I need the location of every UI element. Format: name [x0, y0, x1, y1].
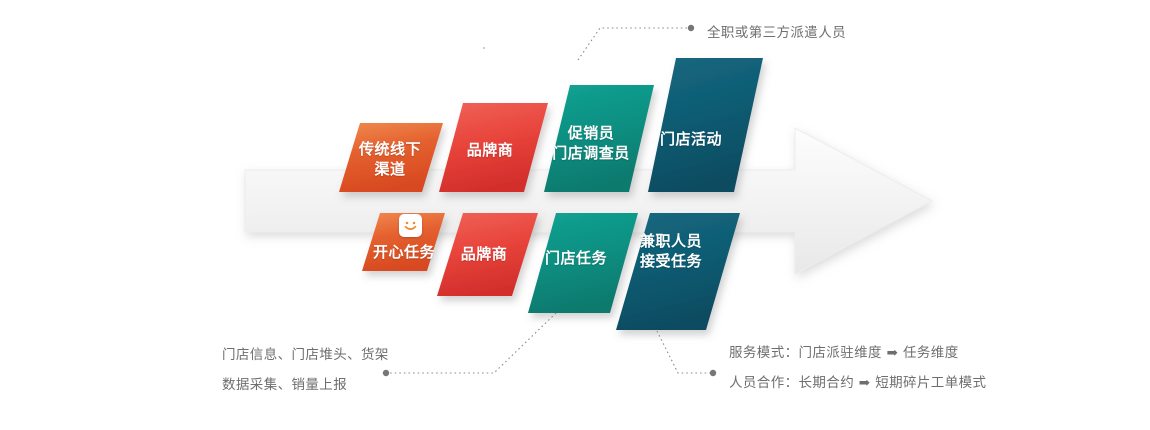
leader-bottom-right: [657, 331, 712, 373]
annotation-bottom-left-line2: 数据采集、销量上报: [222, 375, 347, 396]
annotation-top-right: 全职或第三方派遣人员: [707, 21, 846, 41]
leader-top-right: [578, 28, 690, 60]
leader-dot-top-right: [688, 25, 694, 31]
smiley-icon: [399, 214, 422, 237]
annotation-bottom-right-line1: 服务模式：门店派驻维度 ➡ 任务维度: [729, 343, 959, 364]
image-speck: [483, 47, 485, 49]
diagram-svg: [0, 0, 1150, 430]
annotation-bottom-right-line2: 人员合作：长期合约 ➡ 短期碎片工单模式: [729, 373, 986, 394]
leader-dot-bottom-left: [383, 370, 389, 376]
row-traditional: [339, 58, 763, 192]
leader-dot-bottom-right: [710, 370, 716, 376]
diagram-canvas: 传统线下 渠道 品牌商 促销员 门店调查员 门店活动 开心任务 品牌商 门店任务…: [0, 0, 1150, 430]
leader-bottom-left: [387, 313, 556, 373]
annotation-bottom-left-line1: 门店信息、门店堆头、货架: [222, 345, 389, 366]
